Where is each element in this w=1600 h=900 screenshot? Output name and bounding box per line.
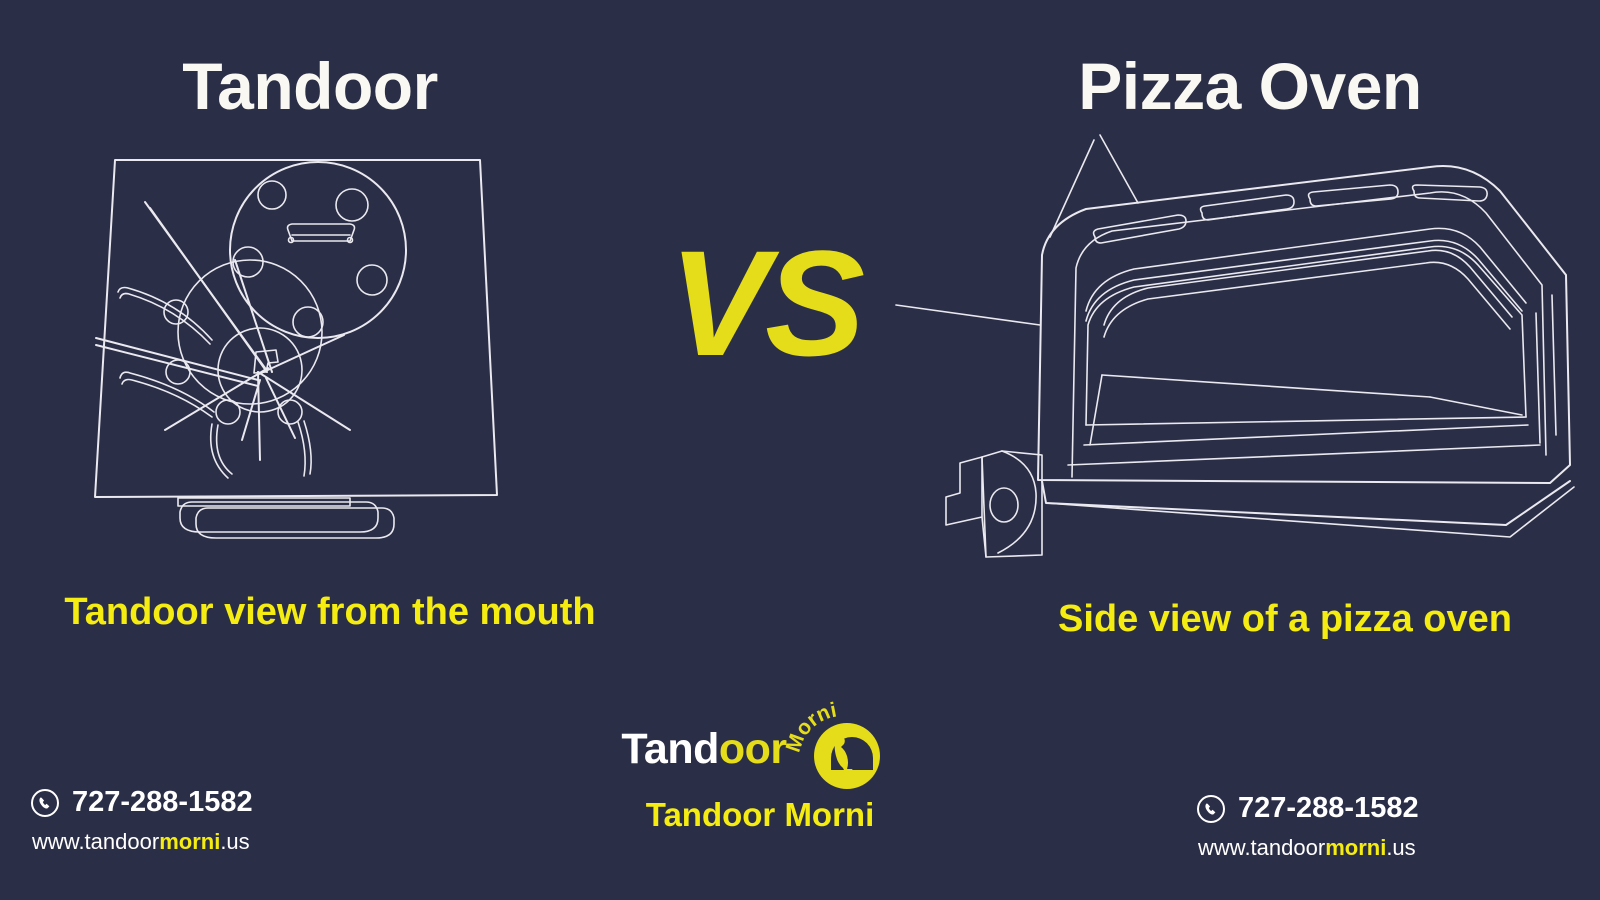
website-prefix-right: www.tandoor bbox=[1198, 835, 1325, 860]
website-highlight-right: morni bbox=[1325, 835, 1386, 860]
peacock-in-circle-icon: Morni bbox=[791, 706, 899, 792]
website-right[interactable]: www.tandoormorni.us bbox=[1198, 835, 1419, 861]
phone-row-left[interactable]: 727-288-1582 bbox=[30, 786, 253, 819]
logo-mark-row: Tandoor bbox=[560, 706, 960, 792]
pizza-oven-illustration bbox=[890, 125, 1590, 565]
phone-number-right: 727-288-1582 bbox=[1238, 792, 1419, 825]
page-title-left: Tandoor bbox=[60, 48, 560, 124]
phone-circle-icon bbox=[30, 788, 60, 818]
contact-block-left: 727-288-1582 www.tandoormorni.us bbox=[30, 786, 253, 855]
page-title-right: Pizza Oven bbox=[1000, 48, 1500, 124]
website-prefix-left: www.tandoor bbox=[32, 829, 159, 854]
website-highlight-left: morni bbox=[159, 829, 220, 854]
phone-number-left: 727-288-1582 bbox=[72, 786, 253, 819]
infographic-canvas: Tandoor Pizza Oven bbox=[0, 0, 1600, 900]
website-suffix-right: .us bbox=[1386, 835, 1415, 860]
caption-left: Tandoor view from the mouth bbox=[30, 588, 630, 637]
logo-tagline: Tandoor Morni bbox=[560, 796, 960, 834]
logo-word-part-1: Tand bbox=[621, 725, 719, 773]
logo-wordmark: Tandoor bbox=[621, 725, 786, 774]
website-left[interactable]: www.tandoormorni.us bbox=[32, 829, 253, 855]
versus-label: VS bbox=[600, 228, 930, 378]
contact-block-right: 727-288-1582 www.tandoormorni.us bbox=[1196, 792, 1419, 861]
brand-logo[interactable]: Tandoor bbox=[560, 706, 960, 834]
logo-word-part-2: oor bbox=[719, 725, 787, 773]
phone-row-right[interactable]: 727-288-1582 bbox=[1196, 792, 1419, 825]
caption-right: Side view of a pizza oven bbox=[1000, 595, 1570, 644]
phone-circle-icon bbox=[1196, 794, 1226, 824]
tandoor-illustration bbox=[60, 140, 530, 550]
website-suffix-left: .us bbox=[220, 829, 249, 854]
